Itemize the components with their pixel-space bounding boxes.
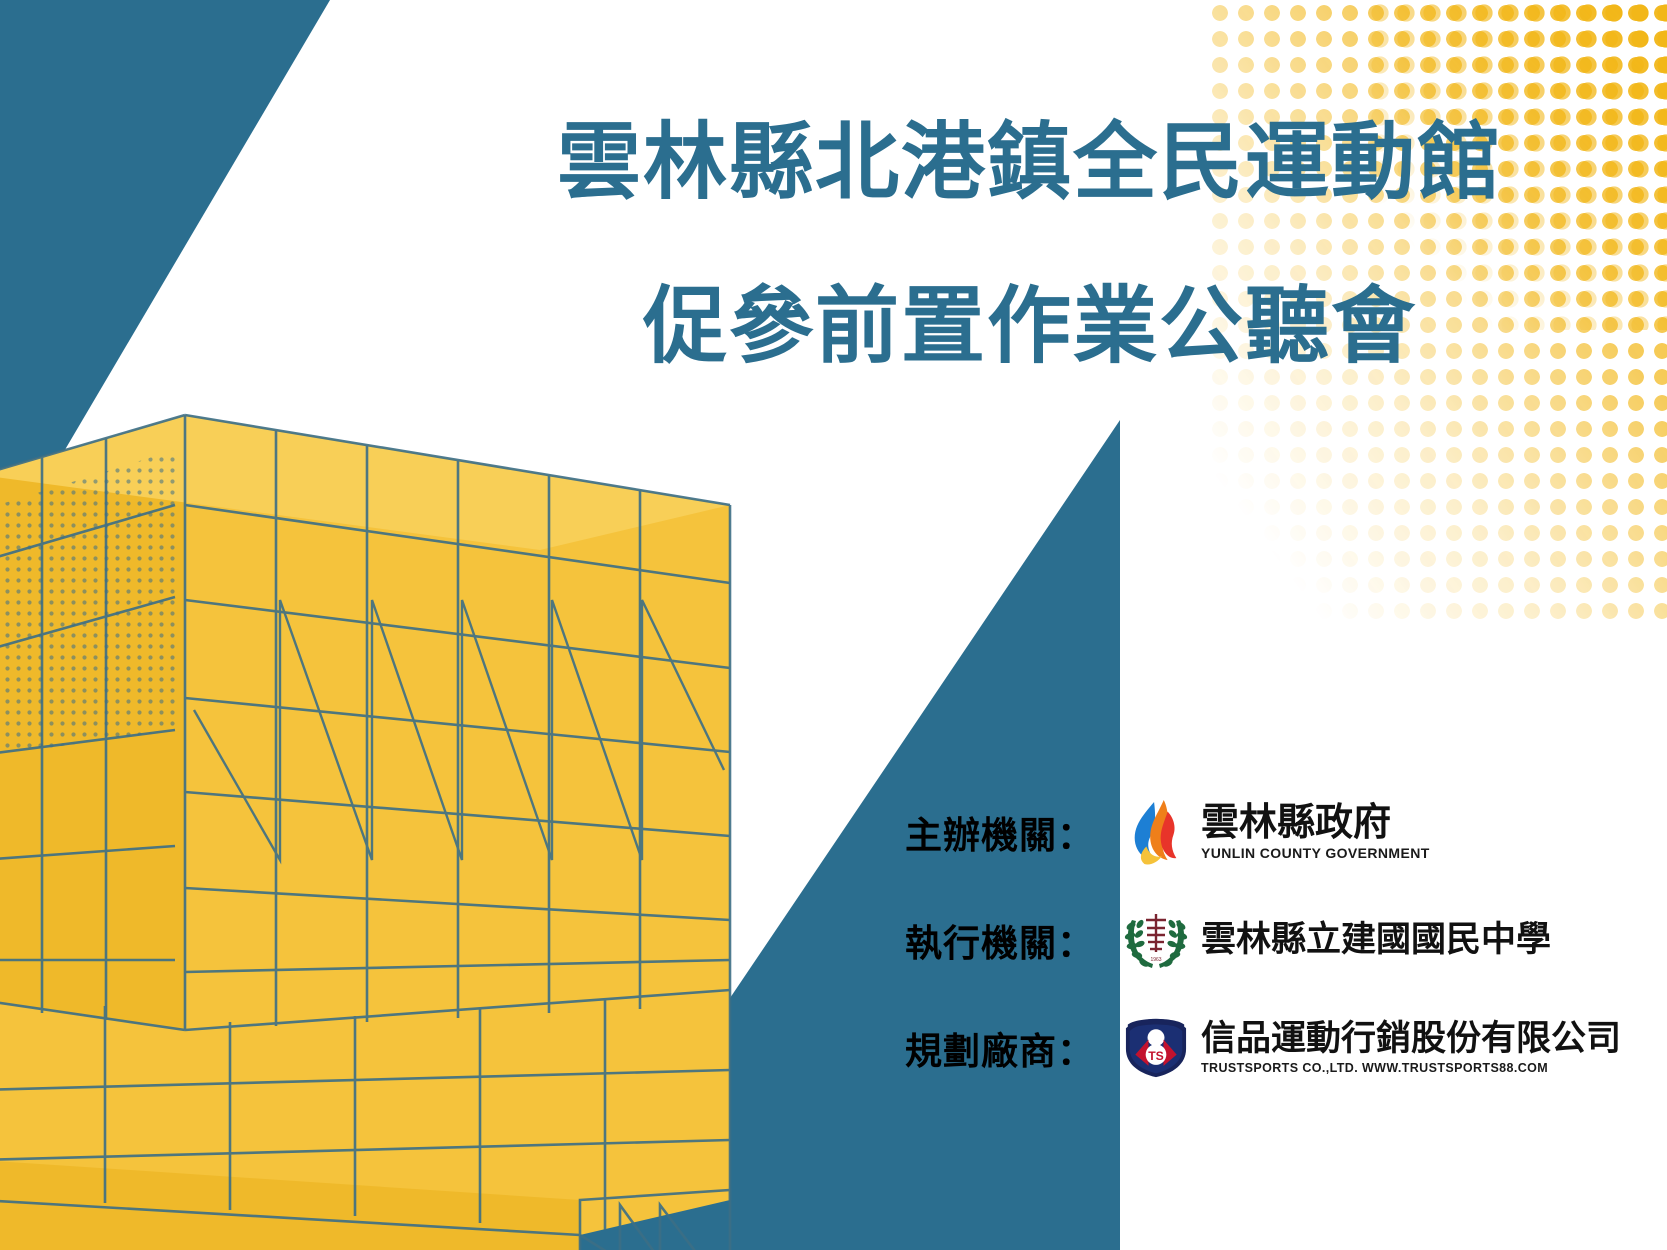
org-label-executor: 執行機關： [905,913,1117,967]
title-line-2: 促參前置作業公聽會 [500,284,1560,368]
svg-text:1963: 1963 [1150,957,1161,963]
org-name-block-executor: 雲林縣立建國國民中學 [1201,922,1551,959]
org-subtitle-planner: TRUSTSPORTS CO.,LTD. WWW.TRUSTSPORTS88.C… [1201,1061,1621,1075]
arena-building-illustration [0,300,860,1250]
organization-credits-list: 主辦機關： 雲林縣政府 YUNLIN COUNTY GOVERNMENT 執行機… [905,778,1625,1102]
org-name-organizer: 雲林縣政府 [1201,803,1430,843]
title-line-1: 雲林縣北港鎮全民運動館 [500,120,1560,204]
svg-text:TS: TS [1148,1049,1164,1063]
yunlin-county-government-flame-logo [1117,793,1195,871]
org-name-block-organizer: 雲林縣政府 YUNLIN COUNTY GOVERNMENT [1201,803,1430,862]
org-label-planner: 規劃廠商： [905,1021,1117,1075]
jianguo-junior-high-school-laurel-crest: 1963 [1117,901,1195,979]
org-name-block-planner: 信品運動行銷股份有限公司 TRUSTSPORTS CO.,LTD. WWW.TR… [1201,1021,1621,1075]
slide-title: 雲林縣北港鎮全民運動館 促參前置作業公聽會 [500,120,1560,368]
org-row-planner: 規劃廠商： TS 信品運動行銷股份有限公司 TRUSTSPORTS CO.,LT… [905,994,1625,1102]
trustsports-company-logo: TS [1117,1009,1195,1087]
presentation-slide: 雲林縣北港鎮全民運動館 促參前置作業公聽會 主辦機關： 雲林縣政府 YUNLIN… [0,0,1667,1250]
org-name-executor: 雲林縣立建國國民中學 [1201,922,1551,959]
org-row-organizer: 主辦機關： 雲林縣政府 YUNLIN COUNTY GOVERNMENT [905,778,1625,886]
org-subtitle-organizer: YUNLIN COUNTY GOVERNMENT [1201,845,1430,861]
org-row-executor: 執行機關： [905,886,1625,994]
org-name-planner: 信品運動行銷股份有限公司 [1201,1021,1621,1058]
org-label-organizer: 主辦機關： [905,805,1117,859]
